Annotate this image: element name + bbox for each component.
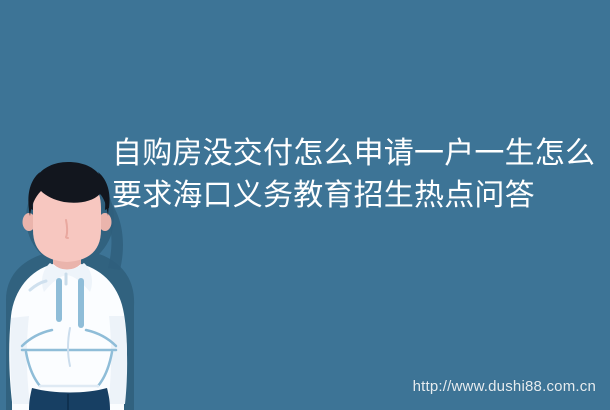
drawstring-left: [56, 278, 62, 322]
hoodie: [9, 263, 127, 410]
drawstring-right: [78, 278, 84, 328]
poster-canvas: 自购房没交付怎么申请一户一生怎么要求海口义务教育招生热点问答 http://ww…: [0, 0, 610, 410]
watermark-url: http://www.dushi88.com.cn: [413, 378, 596, 396]
page-title: 自购房没交付怎么申请一户一生怎么要求海口义务教育招生热点问答: [112, 133, 598, 217]
